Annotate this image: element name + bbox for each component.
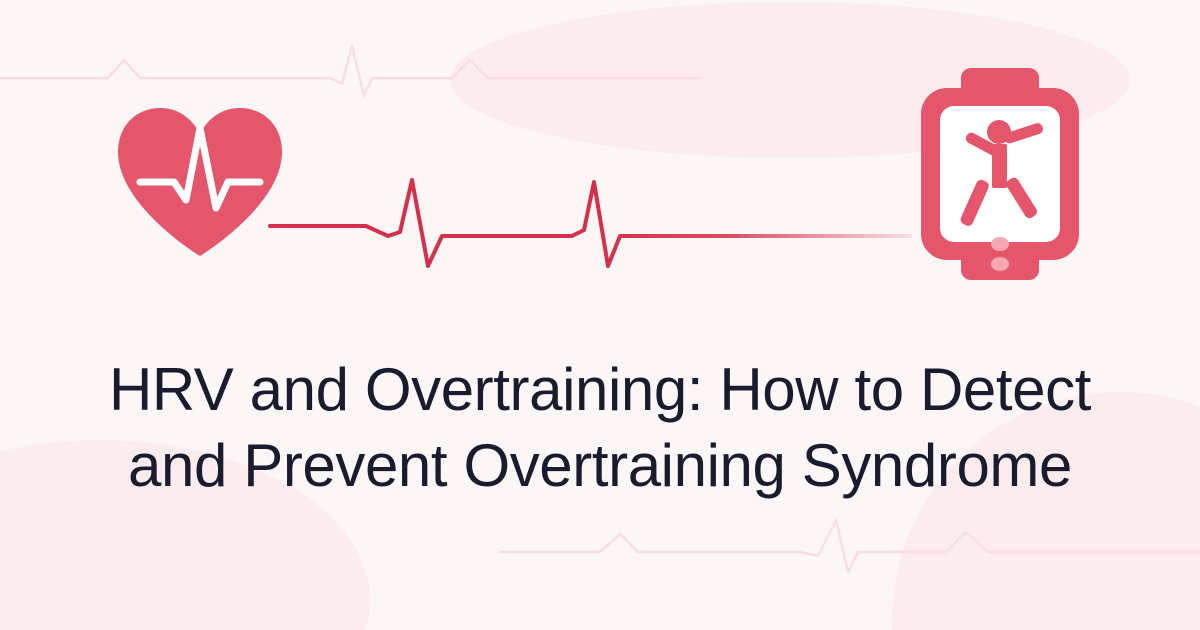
page-title-line-2: and Prevent Overtraining Syndrome xyxy=(0,428,1200,504)
heart-pulse-icon-svg xyxy=(112,104,288,256)
smartwatch-icon-svg xyxy=(920,68,1080,280)
smartwatch-walking-icon xyxy=(920,68,1080,280)
page-title: HRV and Overtraining: How to Detect and … xyxy=(0,352,1200,504)
background-ecg-line-bottom xyxy=(500,520,1200,572)
watch-band-dot-upper xyxy=(991,237,1009,251)
page-title-line-1: HRV and Overtraining: How to Detect xyxy=(0,352,1200,428)
ecg-pulse-line-svg xyxy=(260,170,920,280)
social-share-banner: HRV and Overtraining: How to Detect and … xyxy=(0,0,1200,630)
watch-band-dot-lower xyxy=(991,257,1009,271)
ecg-pulse-path xyxy=(270,180,910,266)
heart-pulse-icon xyxy=(112,104,288,256)
background-ecg-line-top xyxy=(0,46,700,96)
ecg-pulse-line xyxy=(260,170,920,280)
